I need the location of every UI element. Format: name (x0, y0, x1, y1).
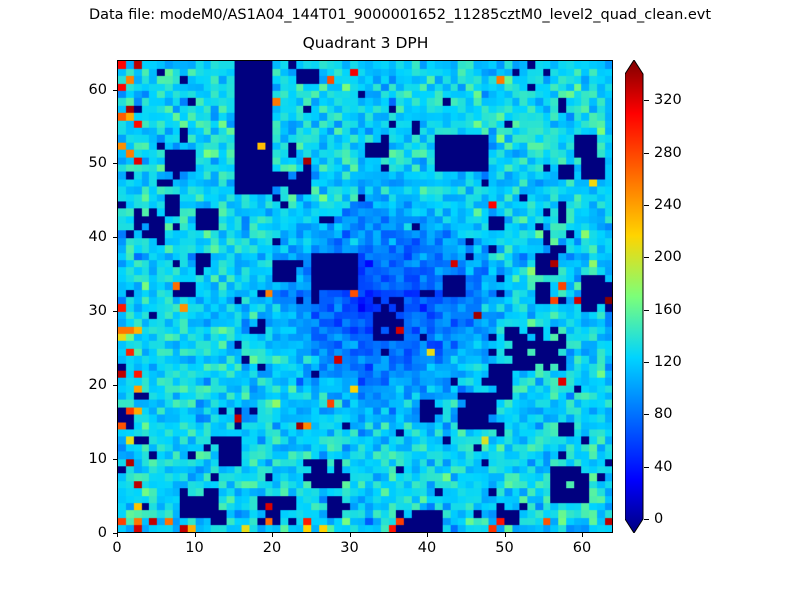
x-tick-label: 30 (320, 539, 380, 557)
heatmap-axes (117, 60, 613, 533)
x-tick-label: 50 (475, 539, 535, 557)
y-tick-mark (113, 533, 117, 534)
x-tick-mark (195, 533, 196, 537)
y-tick-label: 0 (47, 524, 107, 542)
colorbar-tick-label: 40 (654, 458, 672, 476)
colorbar-gradient (625, 60, 725, 533)
colorbar-tick-label: 120 (654, 353, 682, 371)
colorbar-tick-mark (644, 362, 649, 363)
figure-suptitle: Data file: modeM0/AS1A04_144T01_90000016… (0, 5, 800, 25)
x-tick-mark (350, 533, 351, 537)
x-tick-label: 60 (552, 539, 612, 557)
x-tick-mark (117, 533, 118, 537)
colorbar-tick-mark (644, 205, 649, 206)
y-tick-label: 30 (47, 302, 107, 320)
x-tick-label: 40 (397, 539, 457, 557)
y-tick-label: 40 (47, 228, 107, 246)
x-tick-label: 10 (165, 539, 225, 557)
colorbar-tick-label: 160 (654, 301, 682, 319)
x-tick-mark (427, 533, 428, 537)
colorbar-tick-label: 240 (654, 196, 682, 214)
y-tick-mark (113, 163, 117, 164)
matplotlib-figure: Data file: modeM0/AS1A04_144T01_90000016… (0, 0, 800, 600)
colorbar-tick-label: 0 (654, 510, 663, 528)
colorbar-tick-label: 280 (654, 144, 682, 162)
colorbar-tick-mark (644, 100, 649, 101)
colorbar-tick-mark (644, 467, 649, 468)
colorbar-tick-mark (644, 257, 649, 258)
colorbar-tick-mark (644, 310, 649, 311)
y-tick-label: 60 (47, 81, 107, 99)
y-tick-label: 10 (47, 450, 107, 468)
y-tick-mark (113, 459, 117, 460)
y-tick-label: 20 (47, 376, 107, 394)
x-tick-mark (582, 533, 583, 537)
y-tick-mark (113, 385, 117, 386)
x-tick-mark (505, 533, 506, 537)
colorbar: 04080120160200240280320 (625, 60, 725, 533)
y-tick-mark (113, 90, 117, 91)
x-tick-label: 20 (242, 539, 302, 557)
y-tick-mark (113, 237, 117, 238)
colorbar-tick-label: 200 (654, 248, 682, 266)
x-tick-mark (272, 533, 273, 537)
y-tick-mark (113, 311, 117, 312)
axes-title: Quadrant 3 DPH (117, 33, 614, 53)
colorbar-tick-label: 80 (654, 405, 672, 423)
colorbar-tick-mark (644, 414, 649, 415)
colorbar-tick-label: 320 (654, 91, 682, 109)
colorbar-tick-mark (644, 153, 649, 154)
y-tick-label: 50 (47, 154, 107, 172)
heatmap-image (118, 61, 612, 532)
colorbar-tick-mark (644, 519, 649, 520)
